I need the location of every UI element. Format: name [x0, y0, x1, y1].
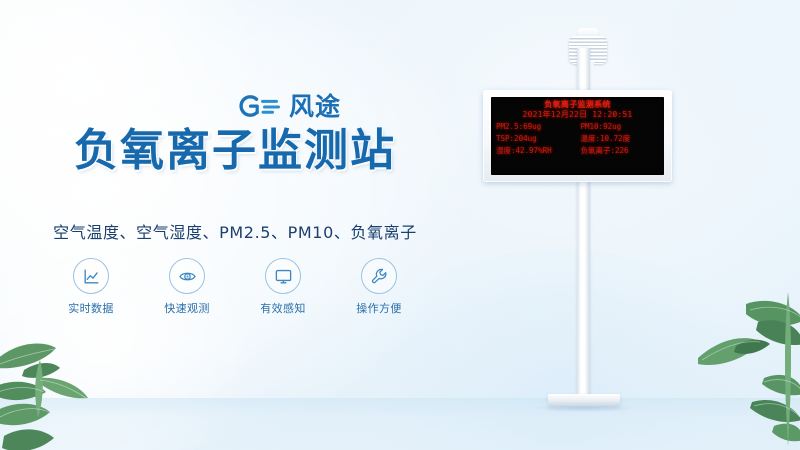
led-reading-temperature: 温度:10.72度 — [579, 134, 660, 145]
page-title: 负氧离子监测站 — [0, 128, 470, 174]
led-display-panel: 负氧离子监测系统 2021年12月22日 12:20:51 PM2.5:69ug… — [483, 90, 672, 182]
floor-base-plate — [548, 394, 620, 406]
led-screen: 负氧离子监测系统 2021年12月22日 12:20:51 PM2.5:69ug… — [491, 97, 664, 175]
brand-logo: 风途 — [236, 92, 341, 120]
led-reading-negative-oxygen-ion: 负氧离子:226 — [579, 146, 660, 157]
feature-label: 操作方便 — [356, 300, 402, 316]
feature-label: 有效感知 — [260, 300, 306, 316]
led-title: 负氧离子监测系统 — [496, 100, 659, 110]
monitoring-station: 负氧离子监测系统 2021年12月22日 12:20:51 PM2.5:69ug… — [470, 0, 800, 450]
feature-item-fast-observation[interactable]: 快速观测 — [156, 258, 218, 316]
line-chart-icon — [73, 258, 109, 294]
feature-label: 快速观测 — [164, 300, 210, 316]
poster-canvas: 风途 负氧离子监测站 空气温度、空气湿度、PM2.5、PM10、负氧离子 实时数… — [0, 0, 800, 450]
feature-item-easy-operation[interactable]: 操作方便 — [348, 258, 410, 316]
led-reading-pm25: PM2.5:69ug — [496, 122, 577, 133]
brand-name: 风途 — [289, 94, 341, 119]
feature-item-effective-sensing[interactable]: 有效感知 — [252, 258, 314, 316]
wrench-icon — [361, 258, 397, 294]
monitor-icon — [265, 258, 301, 294]
page-subtitle: 空气温度、空气湿度、PM2.5、PM10、负氧离子 — [0, 219, 470, 243]
led-reading-humidity: 湿度:42.97%RH — [496, 146, 577, 157]
led-reading-pm10: PM10:92ug — [579, 122, 660, 133]
eye-scan-icon — [169, 258, 205, 294]
feature-item-realtime-data[interactable]: 实时数据 — [60, 258, 122, 316]
fengtu-g-logo-icon — [236, 92, 282, 120]
feature-label: 实时数据 — [68, 300, 114, 316]
led-readings-grid: PM2.5:69ug PM10:92ug TSP:204ug 温度:10.72度… — [496, 122, 659, 157]
led-reading-tsp: TSP:204ug — [496, 134, 577, 145]
marketing-column: 风途 负氧离子监测站 空气温度、空气湿度、PM2.5、PM10、负氧离子 实时数… — [0, 0, 470, 450]
led-datetime: 2021年12月22日 12:20:51 — [496, 110, 659, 121]
feature-list: 实时数据 快速观测 — [0, 258, 470, 316]
